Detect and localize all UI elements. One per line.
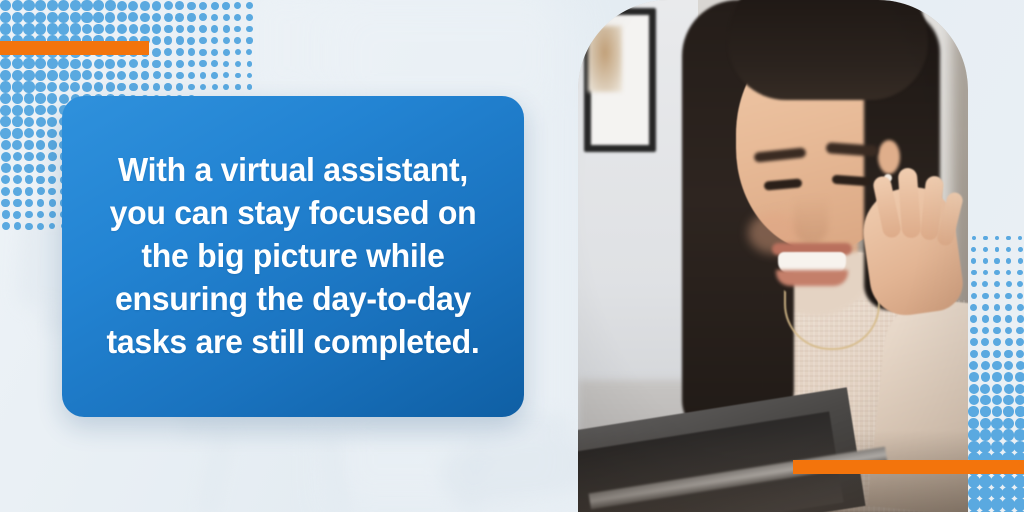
photo-content <box>578 0 968 512</box>
ghost-panel <box>250 0 550 100</box>
ghost-desk-leg <box>201 425 231 512</box>
orange-accent-bar-top-left <box>0 41 149 55</box>
promotional-banner: With a virtual assistant, you can stay f… <box>0 0 1024 512</box>
orange-accent-bar-bottom-right <box>793 460 1024 474</box>
quote-text: With a virtual assistant, you can stay f… <box>72 149 513 364</box>
ghost-desk <box>180 415 570 437</box>
photo-woman-video-call <box>578 0 968 512</box>
quote-card: With a virtual assistant, you can stay f… <box>62 96 524 417</box>
photo-vignette <box>578 0 968 512</box>
